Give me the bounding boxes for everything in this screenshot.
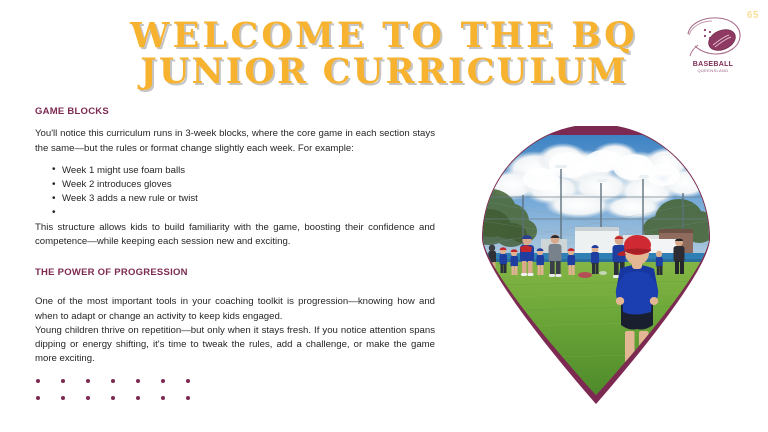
dot <box>111 396 115 400</box>
baseball-training-photo <box>474 126 718 404</box>
list-item <box>35 207 435 221</box>
baseball-mark-icon <box>680 14 746 62</box>
page-title-line-2: JUNIOR CURRICULUM <box>0 54 768 90</box>
dot <box>161 379 165 383</box>
page-number: 65 <box>747 11 759 21</box>
baseball-queensland-logo: BASEBALL QUEENSLAND <box>680 14 746 76</box>
dot <box>36 396 40 400</box>
content-column: GAME BLOCKS You'll notice this curriculu… <box>35 106 435 367</box>
section-spacer <box>35 249 435 267</box>
dot <box>86 396 90 400</box>
logo-wordmark: BASEBALL QUEENSLAND <box>680 61 746 73</box>
section-paragraph-progression-2: Young children thrive on repetition—but … <box>35 324 435 367</box>
list-item: Week 2 introduces gloves <box>35 178 435 192</box>
section-paragraph-game-blocks-closing: This structure allows kids to build fami… <box>35 221 435 249</box>
dot <box>86 379 90 383</box>
list-item: Week 1 might use foam balls <box>35 164 435 178</box>
list-item: Week 3 adds a new rule or twist <box>35 192 435 206</box>
dot <box>136 396 140 400</box>
section-heading-game-blocks: GAME BLOCKS <box>35 106 435 117</box>
section-paragraph-game-blocks-intro: You'll notice this curriculum runs in 3-… <box>35 127 435 155</box>
slide-canvas: 65 BASEBALL QUEENSLAND WELCOME TO <box>0 0 768 432</box>
photo-pin-mask <box>483 135 709 395</box>
page-title-line-1: WELCOME TO THE BQ <box>0 18 768 54</box>
decorative-dot-grid <box>36 379 216 413</box>
dot <box>111 379 115 383</box>
dot <box>186 396 190 400</box>
logo-subtitle: QUEENSLAND <box>680 69 746 73</box>
page-title: WELCOME TO THE BQ JUNIOR CURRICULUM <box>0 18 768 90</box>
dot <box>161 396 165 400</box>
dot <box>61 396 65 400</box>
section-heading-power-of-progression: THE POWER OF PROGRESSION <box>35 267 435 278</box>
game-blocks-bullet-list: Week 1 might use foam balls Week 2 intro… <box>35 164 435 221</box>
dot <box>136 379 140 383</box>
dot <box>61 379 65 383</box>
photo-image <box>483 135 709 395</box>
dot <box>36 379 40 383</box>
heading-spacer <box>35 288 435 295</box>
section-paragraph-progression-1: One of the most important tools in your … <box>35 295 435 323</box>
dot <box>186 379 190 383</box>
